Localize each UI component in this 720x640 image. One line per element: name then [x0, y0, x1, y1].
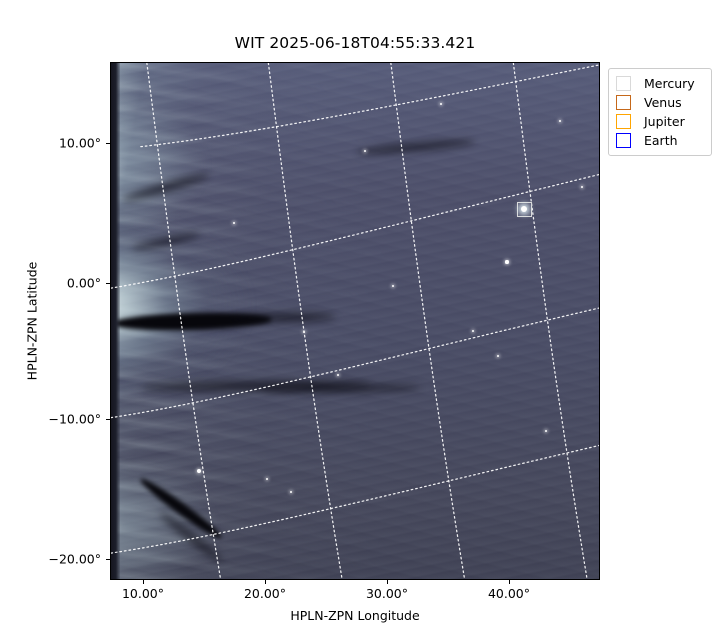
star-point-source — [472, 330, 474, 332]
gridline-lon-40 — [513, 63, 587, 579]
x-tick-label: 30.00° — [366, 586, 408, 601]
legend-swatch-earth — [616, 133, 631, 148]
y-tick-label: 10.00° — [59, 136, 101, 151]
planet-point-source — [521, 206, 527, 212]
planet-marker-mercury[interactable] — [517, 202, 532, 217]
legend-label: Venus — [644, 95, 682, 110]
y-tick-mark — [106, 283, 110, 284]
x-tick-mark — [143, 580, 144, 584]
figure-canvas: WIT 2025-06-18T04:55:33.421 — [0, 0, 720, 640]
legend-swatch-mercury — [616, 76, 631, 91]
legend-item-venus[interactable]: Venus — [616, 93, 705, 112]
star-point-source — [581, 186, 583, 188]
legend-item-mercury[interactable]: Mercury — [616, 74, 705, 93]
legend-swatch-jupiter — [616, 114, 631, 129]
star-point-source — [559, 120, 561, 122]
star-point-source — [545, 430, 547, 432]
legend-label: Jupiter — [644, 114, 685, 129]
occulter-edge-strip — [111, 63, 120, 579]
y-tick-label: 0.00° — [67, 276, 101, 291]
star-point-source — [440, 103, 443, 106]
y-tick-mark — [106, 559, 110, 560]
x-axis-label: HPLN-ZPN Longitude — [110, 608, 600, 623]
x-tick-label: 10.00° — [122, 586, 164, 601]
y-tick-mark — [106, 143, 110, 144]
legend-label: Mercury — [644, 76, 695, 91]
x-tick-label: 40.00° — [488, 586, 530, 601]
x-tick-mark — [265, 580, 266, 584]
y-axis-label: HPLN-ZPN Latitude — [25, 262, 40, 381]
legend-item-jupiter[interactable]: Jupiter — [616, 112, 705, 131]
coronal-core-glow — [110, 218, 257, 393]
legend-swatch-venus — [616, 95, 631, 110]
legend-item-earth[interactable]: Earth — [616, 131, 705, 150]
legend[interactable]: MercuryVenusJupiterEarth — [608, 68, 712, 156]
star-point-source — [497, 355, 499, 357]
y-tick-mark — [106, 419, 110, 420]
page-title: WIT 2025-06-18T04:55:33.421 — [110, 34, 600, 52]
y-tick-label: −10.00° — [48, 412, 101, 427]
x-tick-mark — [387, 580, 388, 584]
x-tick-mark — [509, 580, 510, 584]
coronal-core-glow-upper — [110, 99, 209, 233]
plot-axes[interactable] — [110, 62, 600, 580]
x-tick-label: 20.00° — [244, 586, 286, 601]
legend-label: Earth — [644, 133, 678, 148]
star-point-source — [505, 260, 508, 263]
y-tick-label: −20.00° — [48, 552, 101, 567]
